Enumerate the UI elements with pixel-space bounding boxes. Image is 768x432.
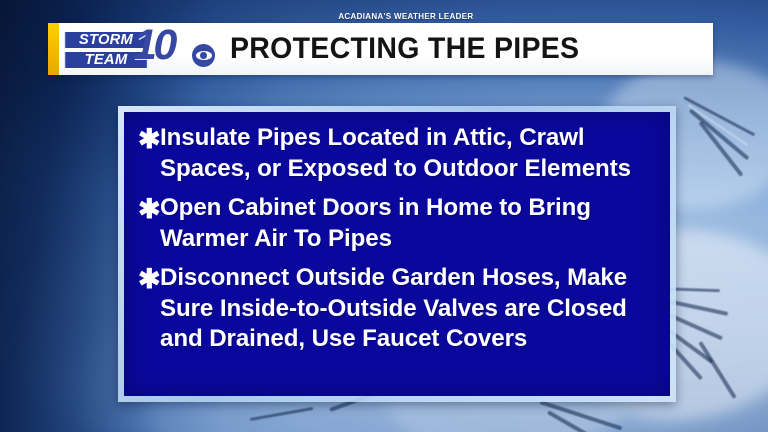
weather-graphic-screen: ACADIANA'S WEATHER LEADER STORM TEAM 10 …	[0, 0, 768, 432]
tips-panel-frame: ✱ Insulate Pipes Located in Attic, Crawl…	[118, 106, 676, 402]
tips-panel: ✱ Insulate Pipes Located in Attic, Crawl…	[124, 112, 670, 396]
storm-team-10-logo: STORM TEAM 10	[65, 27, 220, 71]
list-item-text: Insulate Pipes Located in Attic, Crawl S…	[160, 123, 649, 184]
asterisk-bullet-icon: ✱	[138, 264, 160, 294]
station-tagline-text: ACADIANA'S WEATHER LEADER	[338, 11, 473, 21]
asterisk-bullet-icon: ✱	[138, 124, 160, 154]
asterisk-bullet-icon: ✱	[138, 194, 160, 224]
title-bar: STORM TEAM 10 PROTECTING THE PIPES	[48, 23, 713, 75]
station-tagline-bar: ACADIANA'S WEATHER LEADER	[98, 9, 713, 23]
gold-accent-bar	[48, 23, 59, 75]
logo-channel-number: 10	[133, 24, 174, 67]
cbs-eye-white	[196, 51, 212, 61]
cbs-eye-icon	[192, 44, 215, 67]
list-item-text: Open Cabinet Doors in Home to Bring Warm…	[160, 193, 649, 254]
list-item-text: Disconnect Outside Garden Hoses, Make Su…	[160, 263, 649, 355]
list-item: ✱ Insulate Pipes Located in Attic, Crawl…	[138, 123, 656, 184]
list-item: ✱ Disconnect Outside Garden Hoses, Make …	[138, 263, 656, 355]
cbs-eye-pupil	[200, 52, 207, 60]
page-title: PROTECTING THE PIPES	[230, 23, 579, 75]
list-item: ✱ Open Cabinet Doors in Home to Bring Wa…	[138, 193, 656, 254]
